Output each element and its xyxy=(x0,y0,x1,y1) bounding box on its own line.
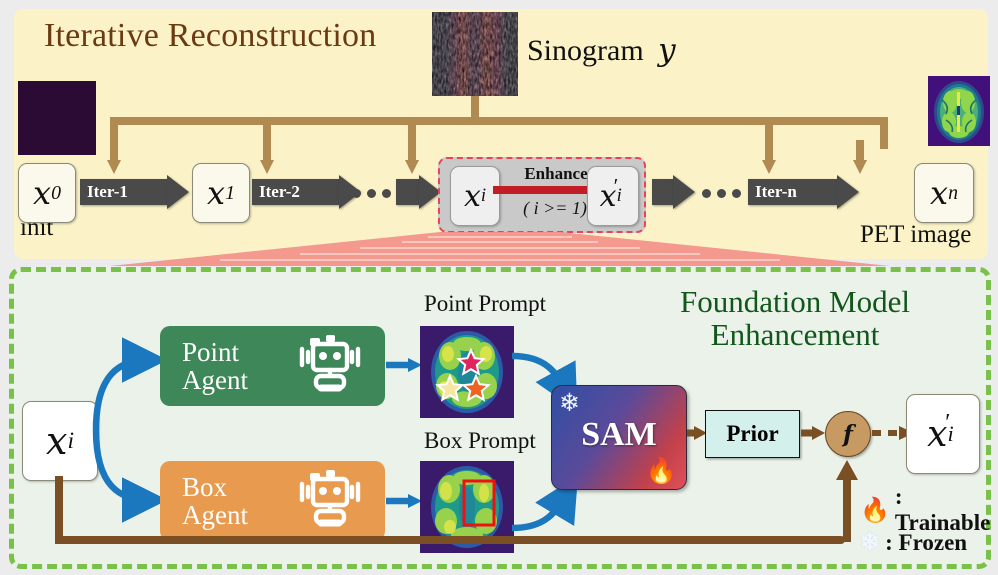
node-xi-top-base: x xyxy=(464,179,481,214)
sinogram-image xyxy=(432,12,518,96)
box-agent-line1: Box xyxy=(182,473,286,501)
box-prompt-caption: Box Prompt xyxy=(424,428,536,454)
node-x0-sub: 0 xyxy=(51,182,61,205)
node-xn-base: x xyxy=(930,174,948,212)
node-x0[interactable]: x0 xyxy=(18,163,76,223)
robot-icon xyxy=(288,470,372,532)
arrow-iter-1[interactable]: Iter-1 xyxy=(80,175,189,209)
arrow-box-agent-to-prompt xyxy=(386,494,422,508)
diagram-canvas: Iterative Reconstruction init xyxy=(0,0,998,575)
node-xi-prime-top-mark: ′ xyxy=(612,174,617,199)
snowflake-icon: ❄ xyxy=(860,528,880,557)
legend-frozen: ❄ : Frozen xyxy=(860,528,967,557)
arrow-iter-1-label: Iter-1 xyxy=(87,182,128,202)
point-prompt-caption: Point Prompt xyxy=(424,291,546,317)
point-prompt-image xyxy=(420,326,514,418)
node-xi-input-sub: i xyxy=(67,428,74,455)
arrow-stub-1 xyxy=(396,175,441,209)
sinogram-caption: Sinogram y xyxy=(527,32,676,68)
panel-title-line1: Foundation Model xyxy=(625,285,965,318)
flame-icon: 🔥 xyxy=(646,457,677,486)
arrow-point-agent-to-prompt xyxy=(386,358,422,372)
box-agent-box[interactable]: Box Agent xyxy=(160,461,385,541)
prior-label: Prior xyxy=(726,421,778,447)
node-xi-top-sub: i xyxy=(481,185,486,207)
node-x0-base: x xyxy=(33,174,51,212)
feed-drop-1 xyxy=(107,140,121,176)
feed-bus-right-corner xyxy=(880,117,888,149)
flame-icon: 🔥 xyxy=(860,496,890,525)
residual-line-down xyxy=(55,476,63,544)
fusion-label: f xyxy=(843,421,853,448)
point-agent-line1: Point xyxy=(182,338,286,366)
box-agent-line2: Agent xyxy=(182,501,286,529)
snowflake-icon: ❄ xyxy=(559,388,580,418)
ellipsis-top-1 xyxy=(352,189,391,198)
node-xi-prime-top-sub: i xyxy=(617,185,622,207)
node-x1-sub: 1 xyxy=(225,182,235,205)
node-xi-prime-output-mark: ′ xyxy=(944,410,949,437)
point-agent-box[interactable]: Point Agent xyxy=(160,326,385,406)
arrow-iter-n[interactable]: Iter-n xyxy=(748,175,859,209)
arrow-sam-to-prior xyxy=(687,426,707,440)
arrow-iter-2-label: Iter-2 xyxy=(259,182,300,202)
panel-title-iterative-reconstruction: Iterative Reconstruction xyxy=(44,17,376,55)
arrow-prior-to-fusion xyxy=(801,426,825,440)
pet-image xyxy=(928,76,990,146)
arrow-iter-2[interactable]: Iter-2 xyxy=(252,175,361,209)
sinogram-drop xyxy=(471,96,479,121)
point-agent-line2: Agent xyxy=(182,366,286,394)
panel-title-line2: Enhancement xyxy=(625,318,965,351)
zoom-beam xyxy=(110,232,890,270)
node-xi-input-base: x xyxy=(46,419,67,463)
node-x1-base: x xyxy=(207,174,225,212)
residual-line-up xyxy=(836,460,858,542)
sinogram-symbol: y xyxy=(658,32,676,68)
feed-drop-2 xyxy=(260,118,274,176)
node-xn-sub: n xyxy=(948,182,958,205)
fusion-node[interactable]: f xyxy=(825,411,871,457)
prior-box[interactable]: Prior xyxy=(705,410,800,458)
robot-icon xyxy=(288,335,372,397)
feed-drop-5 xyxy=(853,140,867,176)
feed-drop-4 xyxy=(762,118,776,176)
init-image xyxy=(18,81,96,155)
node-xi-input[interactable]: xi xyxy=(22,401,98,481)
feed-drop-3 xyxy=(405,118,419,176)
sam-box[interactable]: SAM ❄ 🔥 xyxy=(551,385,687,490)
node-x1[interactable]: x1 xyxy=(192,163,250,223)
point-agent-label: Point Agent xyxy=(182,338,286,394)
legend-frozen-label: : Frozen xyxy=(885,530,967,556)
node-xn[interactable]: xn xyxy=(914,163,974,223)
sinogram-label: Sinogram xyxy=(527,34,644,67)
node-xi-prime-output[interactable]: xi′ xyxy=(906,394,980,474)
arrow-iter-n-label: Iter-n xyxy=(755,182,797,202)
box-agent-label: Box Agent xyxy=(182,473,286,529)
ellipsis-top-2 xyxy=(702,189,741,198)
node-xi-prime-top[interactable]: xi′ xyxy=(587,166,639,226)
panel-title-foundation-model-enhancement: Foundation Model Enhancement xyxy=(625,285,965,352)
sam-label: SAM xyxy=(552,416,686,454)
residual-line-horizontal xyxy=(55,536,845,544)
arrow-stub-2 xyxy=(652,175,695,209)
